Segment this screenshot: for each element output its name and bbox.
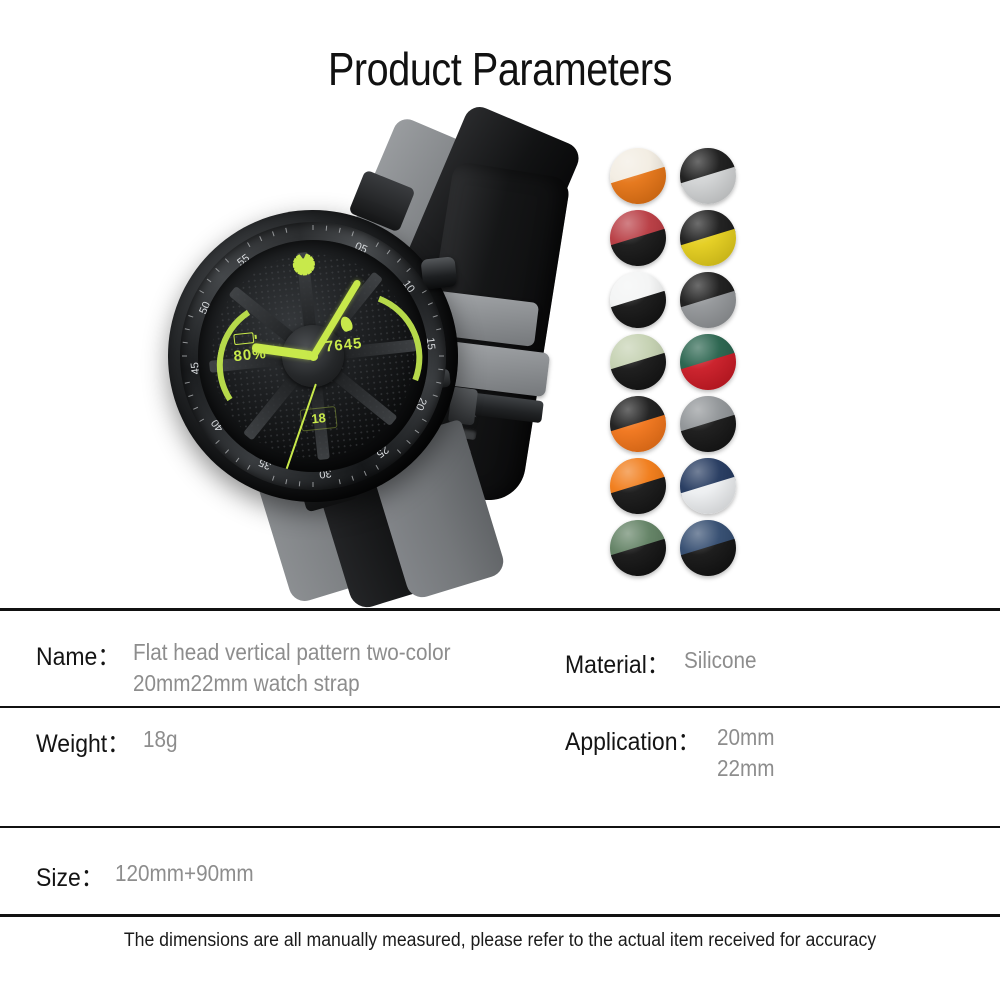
table-divider-bottom [0, 914, 1000, 917]
bezel-tick [185, 328, 190, 330]
bezel-tick [259, 236, 262, 241]
bezel-tick [397, 449, 401, 453]
swatch-gloss [680, 458, 736, 514]
color-swatch-navy-black[interactable] [680, 520, 736, 576]
bezel-tick [326, 226, 328, 231]
spec-table: Name： Flat head vertical pattern two-col… [0, 608, 1000, 917]
spec-cell-size: Size： 120mm+90mm [36, 858, 269, 894]
swatch-gloss [610, 458, 666, 514]
spec-row-size: Size： 120mm+90mm [0, 828, 1000, 914]
bezel-tick [215, 268, 219, 272]
spec-value-name: Flat head vertical pattern two-color 20m… [133, 637, 451, 699]
bezel-tick [438, 369, 443, 371]
swatch-gloss [610, 148, 666, 204]
spec-label-weight: Weight： [36, 724, 130, 760]
spec-label-application: Application： [565, 722, 701, 758]
product-image: 0510152025303540455055 80% 7645 18 [0, 120, 1000, 590]
bezel-tick [397, 258, 401, 262]
swatch-gloss [610, 272, 666, 328]
bezel-tick [415, 430, 420, 434]
bezel-tick [387, 250, 391, 255]
spec-label-material: Material： [565, 645, 670, 681]
bezel-tick [193, 407, 198, 410]
spec-row-weight: Weight： 18g Application： 20mm 22mm [0, 708, 1000, 826]
bezel-tick [376, 465, 379, 470]
bezel-tick [351, 476, 353, 481]
bezel-tick [285, 228, 287, 233]
bezel-tick [422, 419, 427, 422]
bezel-tick [339, 228, 341, 233]
spec-cell-weight: Weight： 18g [36, 724, 182, 760]
swatch-gloss [680, 210, 736, 266]
swatch-gloss [680, 396, 736, 452]
smartwatch-illustration: 0510152025303540455055 80% 7645 18 [150, 130, 600, 580]
bezel-tick [364, 471, 367, 476]
swatch-gloss [680, 334, 736, 390]
measurement-disclaimer: The dimensions are all manually measured… [35, 930, 965, 952]
spec-value-size: 120mm+90mm [115, 858, 254, 889]
color-swatch-grid [610, 148, 740, 568]
dial-center-dot [308, 351, 318, 361]
bezel-tick [433, 394, 438, 396]
spec-cell-name: Name： Flat head vertical pattern two-col… [36, 637, 486, 699]
bezel-tick [439, 356, 444, 357]
spec-label-size: Size： [36, 858, 104, 894]
swatch-gloss [680, 272, 736, 328]
swatch-gloss [610, 520, 666, 576]
swatch-gloss [610, 334, 666, 390]
spec-cell-application: Application： 20mm 22mm [565, 722, 781, 784]
bezel-tick [183, 342, 188, 344]
swatch-gloss [680, 520, 736, 576]
color-swatch-orange-black[interactable] [610, 458, 666, 514]
bezel-tick [225, 258, 229, 262]
bezel-tick [185, 382, 190, 384]
bezel-tick [313, 482, 314, 487]
bezel-tick [436, 328, 441, 330]
spec-cell-material: Material： Silicone [565, 645, 764, 681]
bezel-tick [422, 290, 427, 293]
bezel-tick [406, 440, 410, 444]
bezel-tick [215, 440, 219, 444]
bezel-tick [236, 458, 240, 463]
dial-twelve-marker [296, 258, 311, 272]
color-swatch-grey-black[interactable] [680, 396, 736, 452]
color-swatch-black-orange[interactable] [610, 396, 666, 452]
bezel-tick [247, 242, 250, 247]
bezel-tick [313, 225, 314, 230]
color-swatch-sage-black[interactable] [610, 334, 666, 390]
swatch-gloss [610, 396, 666, 452]
color-swatch-dark-red-black[interactable] [610, 210, 666, 266]
color-swatch-black-yellow[interactable] [680, 210, 736, 266]
spec-value-application: 20mm 22mm [717, 722, 775, 784]
page-title: Product Parameters [70, 42, 930, 96]
bezel-tick [376, 242, 379, 247]
bezel-tick [436, 382, 441, 384]
swatch-gloss [680, 148, 736, 204]
bezel-tick [188, 394, 193, 396]
product-parameters-page: Product Parameters [0, 0, 1000, 1000]
bezel-tick [272, 476, 274, 481]
bezel-tick [225, 449, 229, 453]
bezel-tick [433, 315, 438, 317]
bezel-tick [339, 479, 341, 484]
color-swatch-black-grey[interactable] [680, 272, 736, 328]
color-swatch-white-black[interactable] [610, 272, 666, 328]
color-swatch-black-silver[interactable] [680, 148, 736, 204]
bezel-tick [199, 290, 204, 293]
bezel-tick [207, 279, 212, 283]
spec-value-material: Silicone [684, 645, 756, 676]
color-swatch-green-black[interactable] [610, 520, 666, 576]
bezel-tick [299, 481, 301, 486]
spec-label-name: Name： [36, 637, 120, 673]
bezel-tick [285, 479, 287, 484]
swatch-gloss [610, 210, 666, 266]
spec-value-weight: 18g [143, 724, 178, 755]
bezel-tick [188, 315, 193, 317]
bezel-tick [247, 465, 250, 470]
color-swatch-cream-orange[interactable] [610, 148, 666, 204]
bezel-tick [351, 231, 353, 236]
bezel-tick [199, 419, 204, 422]
bezel-tick [428, 302, 433, 305]
color-swatch-navy-white[interactable] [680, 458, 736, 514]
bezel-tick [406, 268, 410, 272]
spec-row-name: Name： Flat head vertical pattern two-col… [0, 611, 1000, 706]
color-swatch-green-red[interactable] [680, 334, 736, 390]
bezel-tick [272, 231, 274, 236]
battery-icon [233, 332, 254, 345]
bezel-tick [182, 356, 187, 357]
